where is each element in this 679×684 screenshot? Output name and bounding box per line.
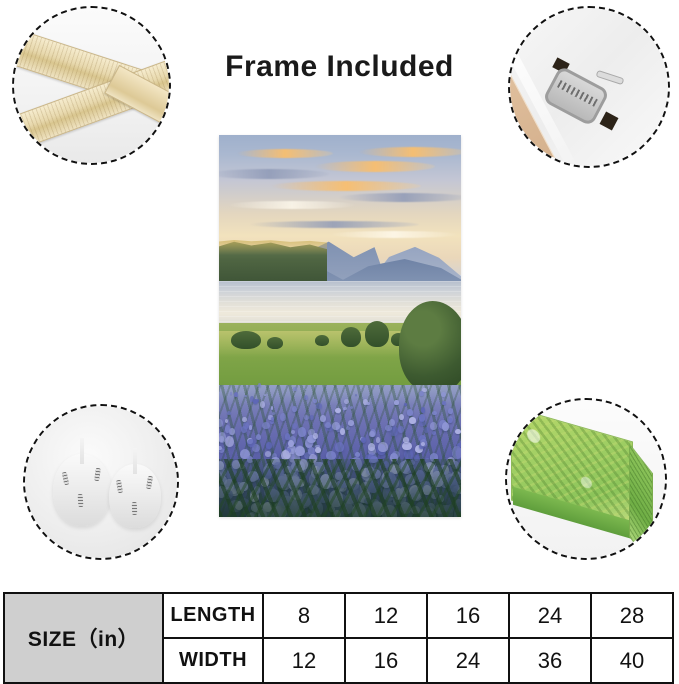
sawtooth-hanger-illustration [510,8,668,166]
flower-bloom [402,442,411,450]
flower-bloom [452,446,461,459]
flower-bloom [325,422,331,428]
flower-bloom [320,415,326,422]
flower-bloom [260,401,265,408]
cloud-shape [237,149,333,158]
flower-bloom [343,407,347,410]
flower-bloom [262,422,270,429]
flower-bloom [225,436,234,448]
wall-hooks-illustration [25,406,177,558]
length-value: 12 [345,593,427,638]
row-header-width: WIDTH [163,638,263,683]
flower-bloom [432,411,437,415]
width-value: 24 [427,638,509,683]
flower-bloom [225,419,228,423]
callout-wall-hooks [23,404,179,560]
flower-bloom [272,412,275,415]
flower-bloom [242,417,247,422]
screw-icon [146,476,153,490]
artwork-tree [365,321,389,347]
wall-hook-icon [109,464,161,528]
flower-bloom [219,419,223,427]
width-value: 40 [591,638,673,683]
size-label-cell: SIZE（in） [4,593,163,683]
flower-bloom [315,447,321,453]
flower-bloom [403,437,408,442]
flower-bloom [271,406,274,410]
flower-bloom [392,451,399,458]
flower-bloom [366,402,370,406]
flower-bloom [404,403,407,406]
width-value: 16 [345,638,427,683]
flower-bloom [455,429,461,434]
callout-frame-corner [12,6,171,165]
flower-bloom [249,425,252,429]
flower-bloom [304,395,308,400]
flower-bloom [335,442,344,452]
flower-bloom [399,414,404,420]
flower-bloom [398,426,405,434]
flower-bloom [432,431,436,435]
flower-bloom [441,392,445,397]
flower-bloom [266,442,273,449]
size-table: SIZE（in） LENGTH 8 12 16 24 28 WIDTH 12 1… [3,592,674,684]
flower-bloom [316,403,321,409]
flower-bloom [298,427,305,437]
flower-bloom [335,408,340,413]
flower-bloom [230,392,232,394]
flower-bloom [361,437,366,443]
flower-bloom [227,411,231,415]
length-value: 16 [427,593,509,638]
flower-bloom [291,430,295,434]
artwork-tree [267,337,283,349]
flower-bloom [229,428,235,435]
frame-corner-illustration [14,8,169,163]
flower-bloom [234,392,238,397]
flower-bloom [293,387,296,391]
artwork-foreground-leaves [219,459,461,517]
cloud-shape [315,161,435,172]
flower-bloom [344,399,349,404]
flower-bloom [304,415,309,420]
cloud-shape [339,193,461,202]
artwork-headland-highlight [219,239,327,255]
screw-icon [78,494,84,507]
flower-bloom [256,434,261,440]
flower-bloom [241,426,247,433]
flower-bloom [292,423,298,429]
flower-bloom [369,431,375,438]
flower-bloom [309,415,314,420]
artwork-tree [231,331,261,349]
length-value: 24 [509,593,591,638]
flower-bloom [407,409,413,415]
flower-bloom [225,425,230,432]
flower-bloom [292,406,297,412]
flower-bloom [442,401,446,405]
screw-icon [116,480,123,494]
product-artwork-image [219,135,461,517]
flower-bloom [346,426,350,430]
flower-bloom [247,439,254,447]
flower-bloom [385,425,392,432]
flower-bloom [264,394,266,396]
flower-bloom [313,433,318,438]
flower-bloom [419,391,423,396]
flower-bloom [355,394,357,397]
artwork-tree [341,327,361,347]
callout-hanging-hardware [508,6,670,168]
flower-bloom [340,428,345,435]
flower-bloom [430,422,437,430]
flower-bloom [409,417,416,423]
cloud-shape [359,147,461,157]
screw-icon [132,502,137,515]
flower-bloom [421,407,426,413]
flower-bloom [368,443,376,451]
flower-bloom [288,440,294,448]
flower-bloom [280,413,286,421]
flower-bloom [350,406,354,409]
flower-bloom [424,427,430,432]
flower-bloom [448,408,453,414]
wall-hook-icon [53,454,111,526]
flower-bloom [419,421,426,427]
flower-bloom [295,446,304,456]
screw-icon [94,468,101,482]
flower-bloom [265,451,272,457]
callout-canvas-edge [505,398,667,560]
flower-bloom [244,395,246,397]
flower-bloom [271,417,274,421]
width-value: 36 [509,638,591,683]
flower-bloom [378,442,388,452]
flower-bloom [348,420,354,426]
flower-bloom [442,422,449,431]
flower-bloom [332,422,340,429]
flower-bloom [394,400,399,404]
width-value: 12 [263,638,345,683]
length-value: 8 [263,593,345,638]
flower-bloom [305,389,307,391]
length-value: 28 [591,593,673,638]
screw-icon [62,472,70,486]
canvas-corner-illustration [507,400,665,558]
cloud-shape [271,181,421,191]
flower-bloom [313,399,316,403]
artwork-large-tree [399,301,461,393]
flower-bloom [219,436,224,441]
cloud-shape [227,201,357,209]
flower-bloom [253,399,258,404]
flower-bloom [258,383,262,388]
row-header-length: LENGTH [163,593,263,638]
table-row: SIZE（in） LENGTH 8 12 16 24 28 [4,593,673,638]
artwork-tree [315,335,329,346]
